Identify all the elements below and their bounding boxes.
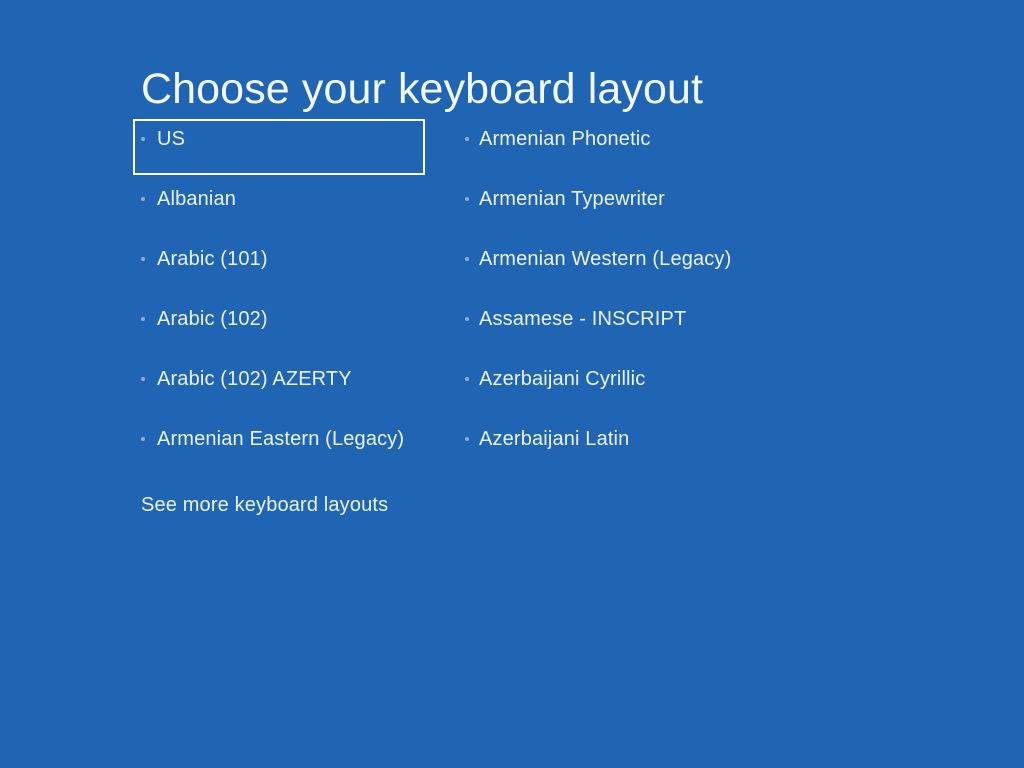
keyboard-layout-item-label: Arabic (102) AZERTY [157, 359, 433, 392]
bullet-icon [465, 257, 469, 261]
keyboard-layout-item[interactable]: Azerbaijani Latin [460, 419, 790, 479]
keyboard-layout-item-label: Azerbaijani Cyrillic [479, 359, 790, 392]
keyboard-layout-column-right: Armenian PhoneticArmenian TypewriterArme… [460, 119, 790, 479]
keyboard-layout-item[interactable]: Arabic (101) [133, 239, 433, 299]
keyboard-layout-item[interactable]: Arabic (102) [133, 299, 433, 359]
bullet-icon [141, 257, 145, 261]
bullet-icon [465, 137, 469, 141]
bullet-icon [141, 377, 145, 381]
keyboard-layout-item[interactable]: Albanian [133, 179, 433, 239]
keyboard-layout-item[interactable]: Armenian Eastern (Legacy) [133, 419, 433, 479]
keyboard-layout-item-label: Azerbaijani Latin [479, 419, 790, 452]
bullet-icon [141, 317, 145, 321]
see-more-keyboard-layouts-link[interactable]: See more keyboard layouts [141, 492, 388, 518]
keyboard-layout-item-label: Assamese - INSCRIPT [479, 299, 790, 332]
keyboard-layout-item-label: US [157, 121, 423, 152]
keyboard-layout-item[interactable]: Armenian Western (Legacy) [460, 239, 790, 299]
keyboard-layout-item-label: Armenian Eastern (Legacy) [157, 419, 433, 452]
keyboard-layout-screen: Choose your keyboard layout USAlbanianAr… [0, 0, 1024, 768]
bullet-icon [141, 437, 145, 441]
keyboard-layout-item[interactable]: Armenian Phonetic [460, 119, 790, 179]
bullet-icon [465, 377, 469, 381]
keyboard-layout-item-label: Arabic (102) [157, 299, 433, 332]
page-title: Choose your keyboard layout [141, 65, 703, 114]
bullet-icon [465, 317, 469, 321]
keyboard-layout-item[interactable]: US [133, 119, 425, 175]
keyboard-layout-column-left: USAlbanianArabic (101)Arabic (102)Arabic… [133, 119, 433, 479]
keyboard-layout-item-label: Armenian Typewriter [479, 179, 790, 212]
bullet-icon [465, 437, 469, 441]
bullet-icon [141, 137, 145, 141]
keyboard-layout-item-label: Armenian Phonetic [479, 119, 790, 152]
bullet-icon [141, 197, 145, 201]
keyboard-layout-item-label: Arabic (101) [157, 239, 433, 272]
keyboard-layout-item[interactable]: Arabic (102) AZERTY [133, 359, 433, 419]
bullet-icon [465, 197, 469, 201]
keyboard-layout-item[interactable]: Azerbaijani Cyrillic [460, 359, 790, 419]
keyboard-layout-item-label: Armenian Western (Legacy) [479, 239, 790, 272]
keyboard-layout-item-label: Albanian [157, 179, 433, 212]
keyboard-layout-item[interactable]: Assamese - INSCRIPT [460, 299, 790, 359]
keyboard-layout-item[interactable]: Armenian Typewriter [460, 179, 790, 239]
